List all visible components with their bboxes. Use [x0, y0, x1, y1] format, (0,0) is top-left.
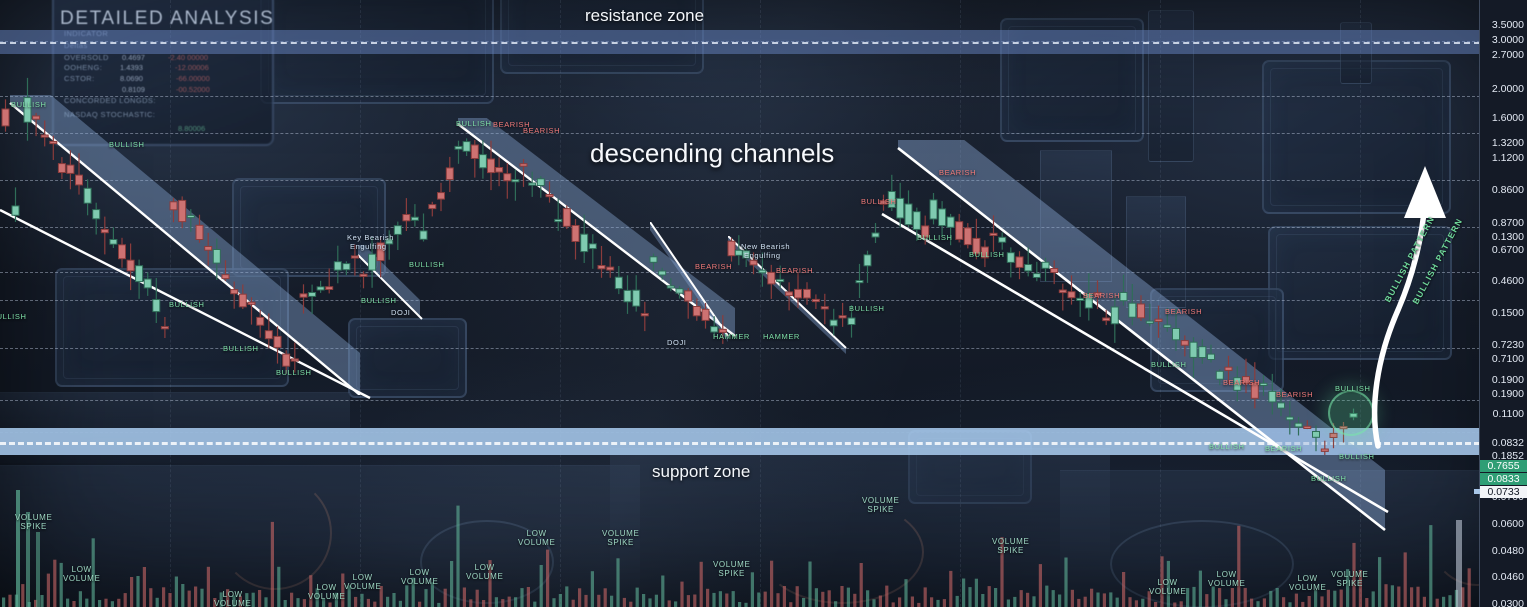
volume-label: LOWVOLUME	[307, 583, 346, 601]
candle-label: BEARISH	[1082, 291, 1121, 300]
volume-label: VOLUMESPIKE	[14, 513, 53, 531]
candle-label: BEARISH	[694, 262, 733, 271]
price-tick: 0.0832	[1480, 437, 1524, 449]
candle-label: BEARISH	[1264, 444, 1303, 453]
candle-label: BULLISH	[1208, 442, 1245, 451]
price-tick: 0.7230	[1480, 339, 1524, 351]
volume-label: VOLUMESPIKE	[861, 496, 900, 514]
price-tick: 0.1900	[1480, 388, 1524, 400]
candle-label: Engulfing	[743, 251, 782, 260]
candle-label: BEARISH	[1164, 307, 1203, 316]
volume-label: LOWVOLUME	[62, 565, 101, 583]
candle-label: BEARISH	[775, 266, 814, 275]
candle-label: BULLISH	[968, 250, 1005, 259]
volume-label: LOWVOLUME	[465, 563, 504, 581]
candle-label: HAMMER	[712, 332, 751, 341]
price-tick: 0.1900	[1480, 374, 1524, 386]
price-tick: 3.0000	[1480, 34, 1524, 46]
price-tick: 0.0600	[1480, 518, 1524, 530]
price-badge[interactable]: 0.0733	[1480, 486, 1527, 498]
candle-label: BULLISH	[408, 260, 445, 269]
candlestick-series	[0, 0, 1480, 470]
candle-label: BULLISH	[1150, 360, 1187, 369]
candle-label: DOJI	[390, 308, 411, 317]
price-tick: 1.1200	[1480, 152, 1524, 164]
candle-label: BULLISH	[860, 197, 897, 206]
candle-label: BEARISH	[938, 168, 977, 177]
volume-label: LOWVOLUME	[1288, 574, 1327, 592]
candle-label: BULLISH	[1334, 384, 1371, 393]
volume-label: LOWVOLUME	[1207, 570, 1246, 588]
candle-label: BULLISH	[1310, 474, 1347, 483]
price-tick: 0.8600	[1480, 184, 1524, 196]
price-tick: 0.8700	[1480, 217, 1524, 229]
candle-label: BULLISH	[10, 100, 47, 109]
volume-label: LOWVOLUME	[400, 568, 439, 586]
candle-label: BEARISH	[1275, 390, 1314, 399]
volume-label: VOLUMESPIKE	[712, 560, 751, 578]
price-tick: 0.0300	[1480, 598, 1524, 607]
candle-label: BULLISH	[108, 140, 145, 149]
bullish-arrow	[1330, 160, 1480, 450]
volume-label: LOWVOLUME	[1148, 578, 1187, 596]
price-tick: 3.5000	[1480, 19, 1524, 31]
volume-label: VOLUMESPIKE	[991, 537, 1030, 555]
candle-label: BULLISH	[168, 300, 205, 309]
candle-label: BULLISH	[0, 312, 27, 321]
price-tick: 2.0000	[1480, 83, 1524, 95]
price-tick: 0.0460	[1480, 571, 1524, 583]
price-tick: 0.1300	[1480, 231, 1524, 243]
price-tick: 0.1500	[1480, 307, 1524, 319]
price-tick: 0.1100	[1480, 408, 1524, 420]
price-axis[interactable]: 3.50003.00002.70002.00001.60001.32001.12…	[1479, 0, 1527, 607]
candle-label: BULLISH	[1338, 452, 1375, 461]
candle-label: BULLISH	[222, 344, 259, 353]
price-tick: 2.7000	[1480, 49, 1524, 61]
price-tick: 0.4600	[1480, 275, 1524, 287]
volume-label: LOWVOLUME	[343, 573, 382, 591]
candle-label: DOJI	[666, 338, 687, 347]
candle-label: Engulfing	[349, 242, 388, 251]
price-tick: 0.7100	[1480, 353, 1524, 365]
volume-label: VOLUMESPIKE	[601, 529, 640, 547]
volume-label: LOWVOLUME	[213, 590, 252, 607]
candle-label: HAMMER	[762, 332, 801, 341]
candle-label: Key Bearish	[346, 233, 395, 242]
candle-label: New Bearish	[740, 242, 791, 251]
volume-series	[0, 470, 1480, 607]
candle-label: BEARISH	[1222, 378, 1261, 387]
trading-chart-screenshot: DETAILED ANALYSIS INDICATOR Deltas OVERS…	[0, 0, 1527, 607]
volume-label: VOLUMESPIKE	[1330, 570, 1369, 588]
candle-label: BULLISH	[360, 296, 397, 305]
price-tick: 0.0480	[1480, 545, 1524, 557]
candle-label: BEARISH	[522, 126, 561, 135]
price-tick: 1.6000	[1480, 112, 1524, 124]
candle-label: BULLISH	[275, 368, 312, 377]
volume-label: LOWVOLUME	[517, 529, 556, 547]
candle-label: BULLISH	[455, 119, 492, 128]
price-badge[interactable]: 0.7655	[1480, 460, 1527, 472]
price-badge[interactable]: 0.0833	[1480, 473, 1527, 485]
candle-label: BULLISH	[916, 233, 953, 242]
price-tick: 0.6700	[1480, 244, 1524, 256]
candle-label: BULLISH	[848, 304, 885, 313]
price-tick: 1.3200	[1480, 137, 1524, 149]
